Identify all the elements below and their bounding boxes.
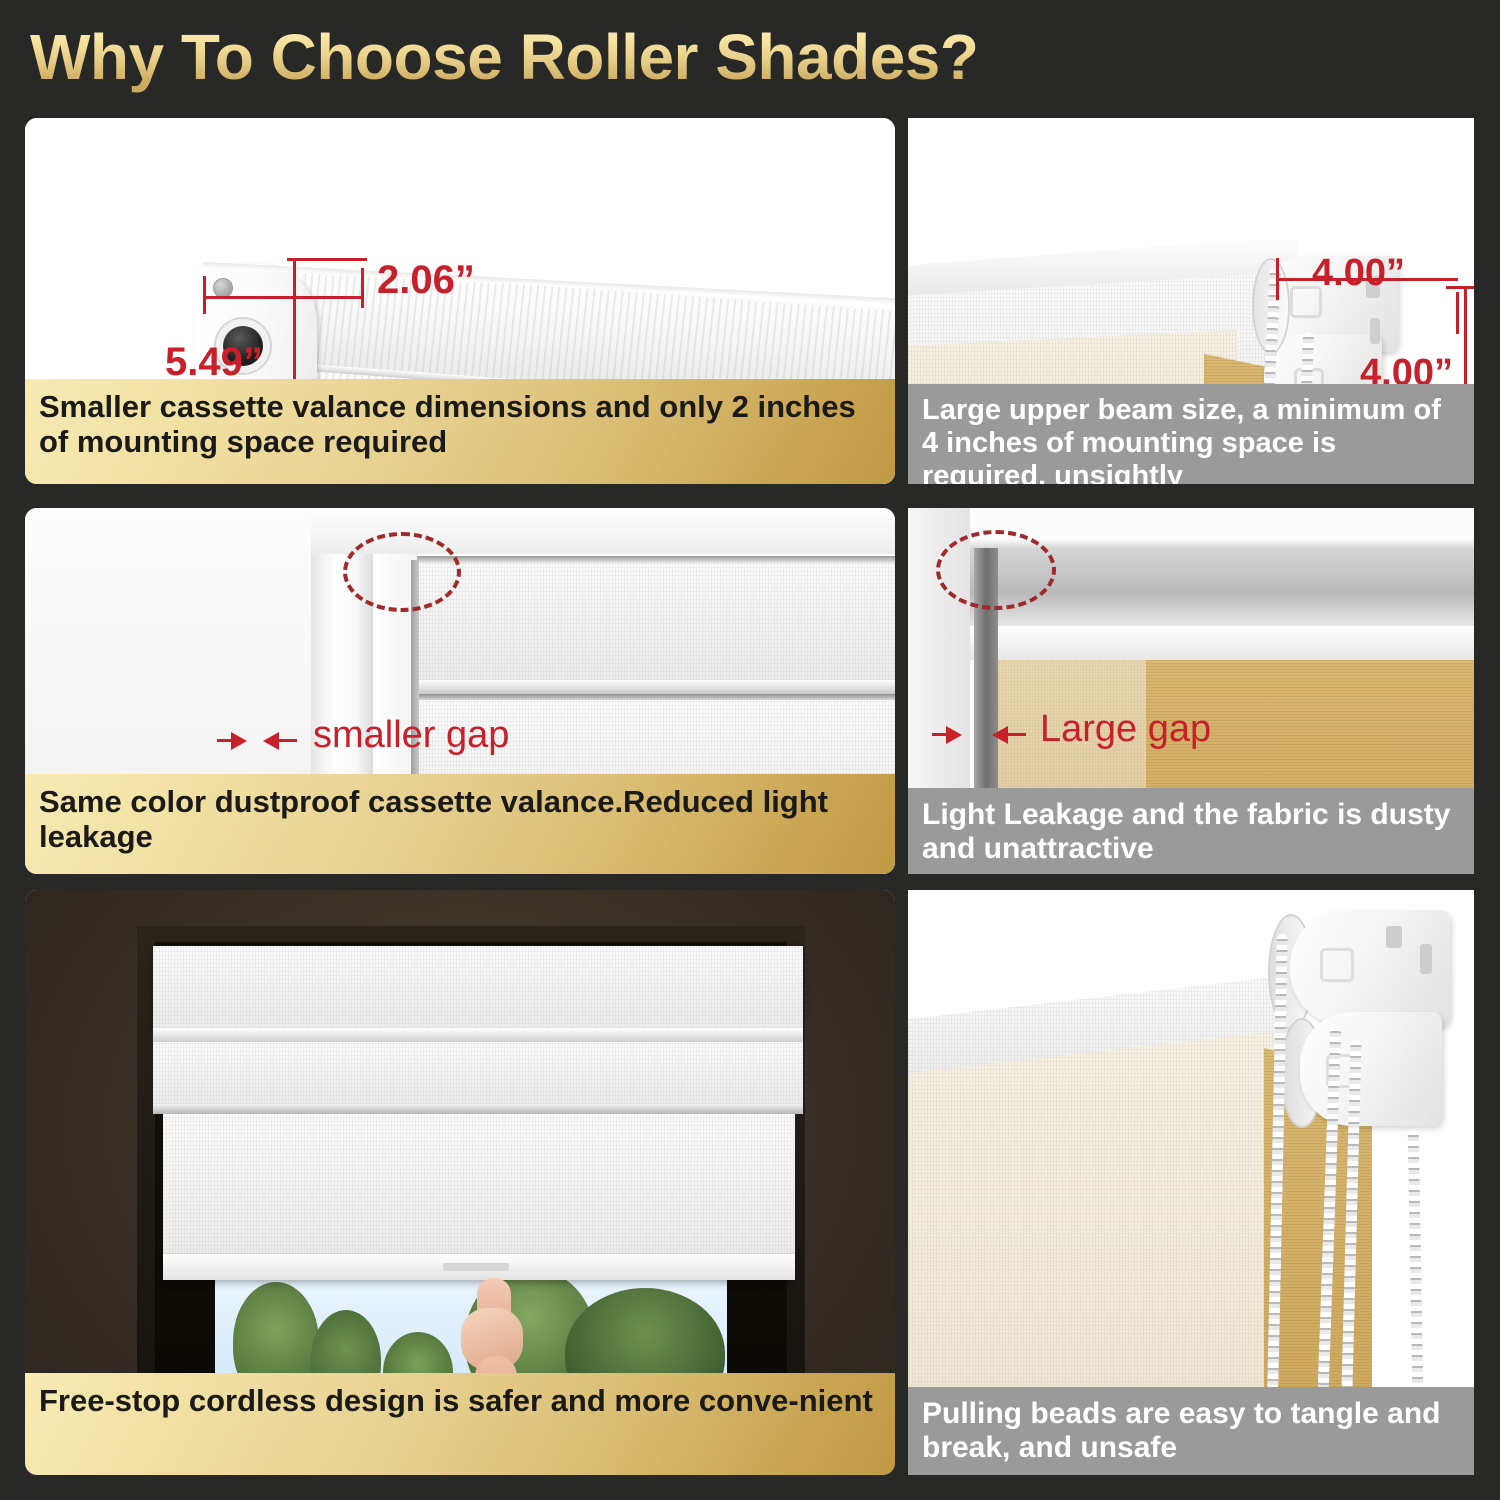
roller-shade-valance xyxy=(153,946,803,1028)
panel-3-caption: Same color dustproof cassette valance.Re… xyxy=(25,774,895,874)
beam-height-tick-top xyxy=(1446,286,1474,289)
height-dim-tick-top xyxy=(287,258,367,261)
gap-arrow-right-stem xyxy=(1006,733,1026,736)
panel-2-caption: Large upper beam size, a minimum of 4 in… xyxy=(908,384,1474,484)
roller-shade-fabric xyxy=(163,1114,795,1262)
valance-bottom-rail xyxy=(417,680,895,694)
bracket-lower xyxy=(1300,1012,1442,1126)
width-dim-tick-right xyxy=(361,268,364,308)
beam-width-dimension-label: 4.00” xyxy=(1312,252,1405,295)
panel-4-caption: Light Leakage and the fabric is dusty an… xyxy=(908,788,1474,874)
screw-icon-top xyxy=(213,278,233,298)
bracket-slot-b xyxy=(1420,944,1432,974)
beam-width-tick-left xyxy=(1276,258,1279,300)
gap-arrow-left-stem xyxy=(217,739,237,742)
panel-2-large-upper-beam: 4.00” 4.00” Large upper beam size, a min… xyxy=(908,118,1474,484)
panel-4-light-leakage: Large gap Light Leakage and the fabric i… xyxy=(908,508,1474,874)
infographic-page: Why To Choose Roller Shades? xyxy=(0,0,1500,1500)
cassette-valance xyxy=(417,560,895,680)
panel-5-cordless-room-scene: Free-stop cordless design is safer and m… xyxy=(25,890,895,1475)
gap-arrow-left-stem xyxy=(932,733,952,736)
valance-mid-rail xyxy=(153,1028,803,1042)
cassette-valance-top-seam xyxy=(417,556,895,563)
width-dim-tick-left xyxy=(203,276,206,314)
valance-bottom-edge xyxy=(153,1104,803,1114)
roller-shade-valance-lower xyxy=(153,1042,803,1104)
page-title: Why To Choose Roller Shades? xyxy=(30,20,978,94)
panel-6-pulling-beads: Pulling beads are easy to tangle and bre… xyxy=(908,890,1474,1475)
beam-width-tick-right xyxy=(1456,292,1459,334)
panel-1-smaller-cassette: 2.06” 5.49” Smaller cassette valance dim… xyxy=(25,118,895,484)
beam-bottom-rail xyxy=(970,626,1474,660)
beam-gap-highlight xyxy=(936,530,1056,610)
width-dimension-line xyxy=(203,296,363,299)
smaller-gap-label: smaller gap xyxy=(313,714,509,757)
valance-gap-highlight xyxy=(343,532,461,612)
bracket-slot-2 xyxy=(1370,318,1380,344)
bead-chain-4 xyxy=(1408,1130,1424,1390)
cream-main-fabric xyxy=(908,1030,1286,1390)
panel-3-dustproof-cassette: smaller gap Same color dustproof cassett… xyxy=(25,508,895,874)
bracket-logo-icon-upper xyxy=(1320,948,1354,982)
panel-1-caption: Smaller cassette valance dimensions and … xyxy=(25,379,895,484)
large-gap-label: Large gap xyxy=(1040,708,1211,751)
bracket-slot-a xyxy=(1386,926,1402,948)
gap-arrow-right-stem xyxy=(277,739,297,742)
width-dimension-label: 2.06” xyxy=(377,258,475,303)
panel-6-caption: Pulling beads are easy to tangle and bre… xyxy=(908,1387,1474,1475)
bottom-rail-grip-label xyxy=(443,1263,509,1271)
panel-5-caption: Free-stop cordless design is safer and m… xyxy=(25,1373,895,1475)
